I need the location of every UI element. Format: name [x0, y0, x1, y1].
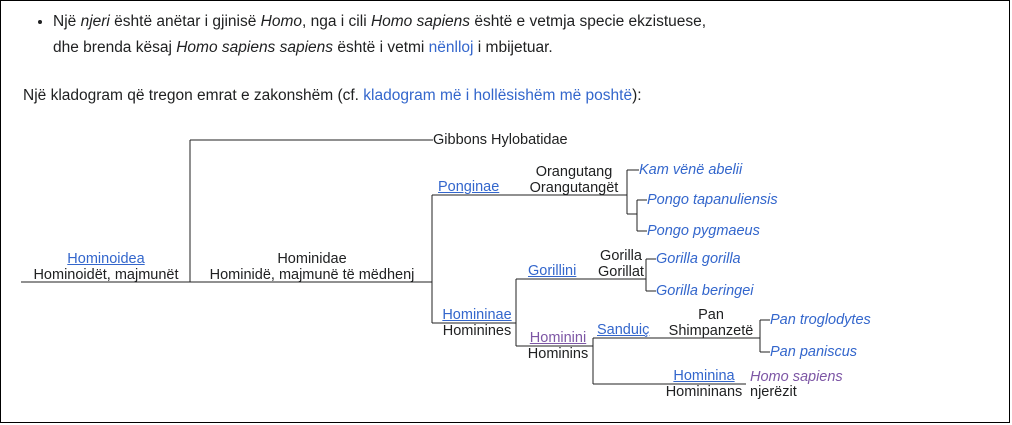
leaf-homo-sapiens[interactable]: Homo sapiens	[750, 370, 843, 385]
clade-hominina-latin[interactable]: Hominina	[661, 369, 747, 385]
clade-orangutang-latin: Orangutang	[522, 165, 626, 181]
leaf-gorilla-gorilla[interactable]: Gorilla gorilla	[656, 252, 741, 267]
clade-gorilla-common: Gorillat	[595, 265, 647, 281]
bullet-text-seg1: Një	[53, 13, 81, 30]
bullet-italic-homo-sapiens: Homo sapiens	[371, 13, 470, 30]
bullet-line2-seg3: i mbijetuar.	[473, 39, 552, 56]
clade-homininae: Homininae Hominines	[438, 308, 516, 339]
link-detailed-cladogram[interactable]: kladogram më i hollësishëm më poshtë	[363, 87, 632, 104]
leaf-pan-paniscus[interactable]: Pan paniscus	[770, 345, 857, 360]
leaf-pongo-abelii[interactable]: Kam vënë abelii	[639, 163, 742, 178]
clade-hominoidea-latin[interactable]: Hominoidea	[21, 252, 191, 268]
clade-hominoidea: Hominoidea Hominoidët, majmunët	[21, 252, 191, 283]
bullet-italic-hss: Homo sapiens sapiens	[176, 39, 333, 56]
leaf-gibbons: Gibbons Hylobatidae	[433, 133, 568, 148]
clade-pan-latin: Pan	[661, 308, 761, 324]
bullet-text-seg2: është anëtar i gjinisë	[110, 13, 261, 30]
cladogram-caption: Një kladogram që tregon emrat e zakonshë…	[23, 85, 642, 107]
leaf-pongo-tapanuliensis[interactable]: Pongo tapanuliensis	[647, 193, 778, 208]
caption-after: ):	[632, 87, 641, 104]
clade-hominina: Hominina Homininans	[661, 369, 747, 400]
clade-homininae-latin[interactable]: Homininae	[438, 308, 516, 324]
clade-gorilla: Gorilla Gorillat	[595, 249, 647, 280]
clade-hominidae-latin: Hominidae	[193, 252, 431, 268]
bullet-text-seg4: është e vetmja specie ekzistuese,	[470, 13, 706, 30]
leaf-homo-sapiens-common: njerëzit	[750, 385, 797, 400]
clade-hominini: Hominini Hominins	[522, 331, 594, 362]
clade-hominina-common: Homininans	[661, 385, 747, 401]
leaf-pan-troglodytes[interactable]: Pan troglodytes	[770, 313, 871, 328]
leaf-gorilla-beringei[interactable]: Gorilla beringei	[656, 284, 754, 299]
clade-orangutang: Orangutang Orangutangët	[522, 165, 626, 196]
caption-before: Një kladogram që tregon emrat e zakonshë…	[23, 87, 363, 104]
clade-homininae-common: Hominines	[438, 324, 516, 340]
clade-hominini-common: Hominins	[522, 347, 594, 363]
bullet-line2-seg1: dhe brenda kësaj	[53, 39, 176, 56]
clade-hominoidea-common: Hominoidët, majmunët	[21, 268, 191, 284]
link-nenlloj[interactable]: nënlloj	[429, 39, 474, 56]
clade-orangutang-common: Orangutangët	[522, 181, 626, 197]
clade-ponginae-latin[interactable]: Ponginae	[438, 180, 499, 195]
leaf-pongo-pygmaeus[interactable]: Pongo pygmaeus	[647, 224, 760, 239]
bullet-italic-njeri: njeri	[81, 13, 110, 30]
clade-pan: Pan Shimpanzetë	[661, 308, 761, 339]
cladogram: Hominoidea Hominoidët, majmunët Hominida…	[1, 119, 1010, 419]
clade-hominini-latin[interactable]: Hominini	[522, 331, 594, 347]
clade-sanduic-latin[interactable]: Sanduiç	[597, 323, 649, 338]
clade-gorillini-latin[interactable]: Gorillini	[528, 264, 576, 279]
bullet-italic-homo: Homo	[261, 13, 302, 30]
bullet-text-seg3: , nga i cili	[302, 13, 371, 30]
clade-pan-common: Shimpanzetë	[661, 324, 761, 340]
clade-gorilla-latin: Gorilla	[595, 249, 647, 265]
clade-hominidae-common: Hominidë, majmunë të mëdhenj	[193, 268, 431, 284]
prose-block: Një njeri është anëtar i gjinisë Homo, n…	[1, 1, 1010, 61]
bullet-list: Një njeri është anëtar i gjinisë Homo, n…	[1, 1, 1010, 61]
clade-hominidae: Hominidae Hominidë, majmunë të mëdhenj	[193, 252, 431, 283]
page-container: Një njeri është anëtar i gjinisë Homo, n…	[0, 0, 1010, 423]
list-item: Një njeri është anëtar i gjinisë Homo, n…	[53, 9, 1010, 61]
bullet-line2-seg2: është i vetmi	[333, 39, 429, 56]
